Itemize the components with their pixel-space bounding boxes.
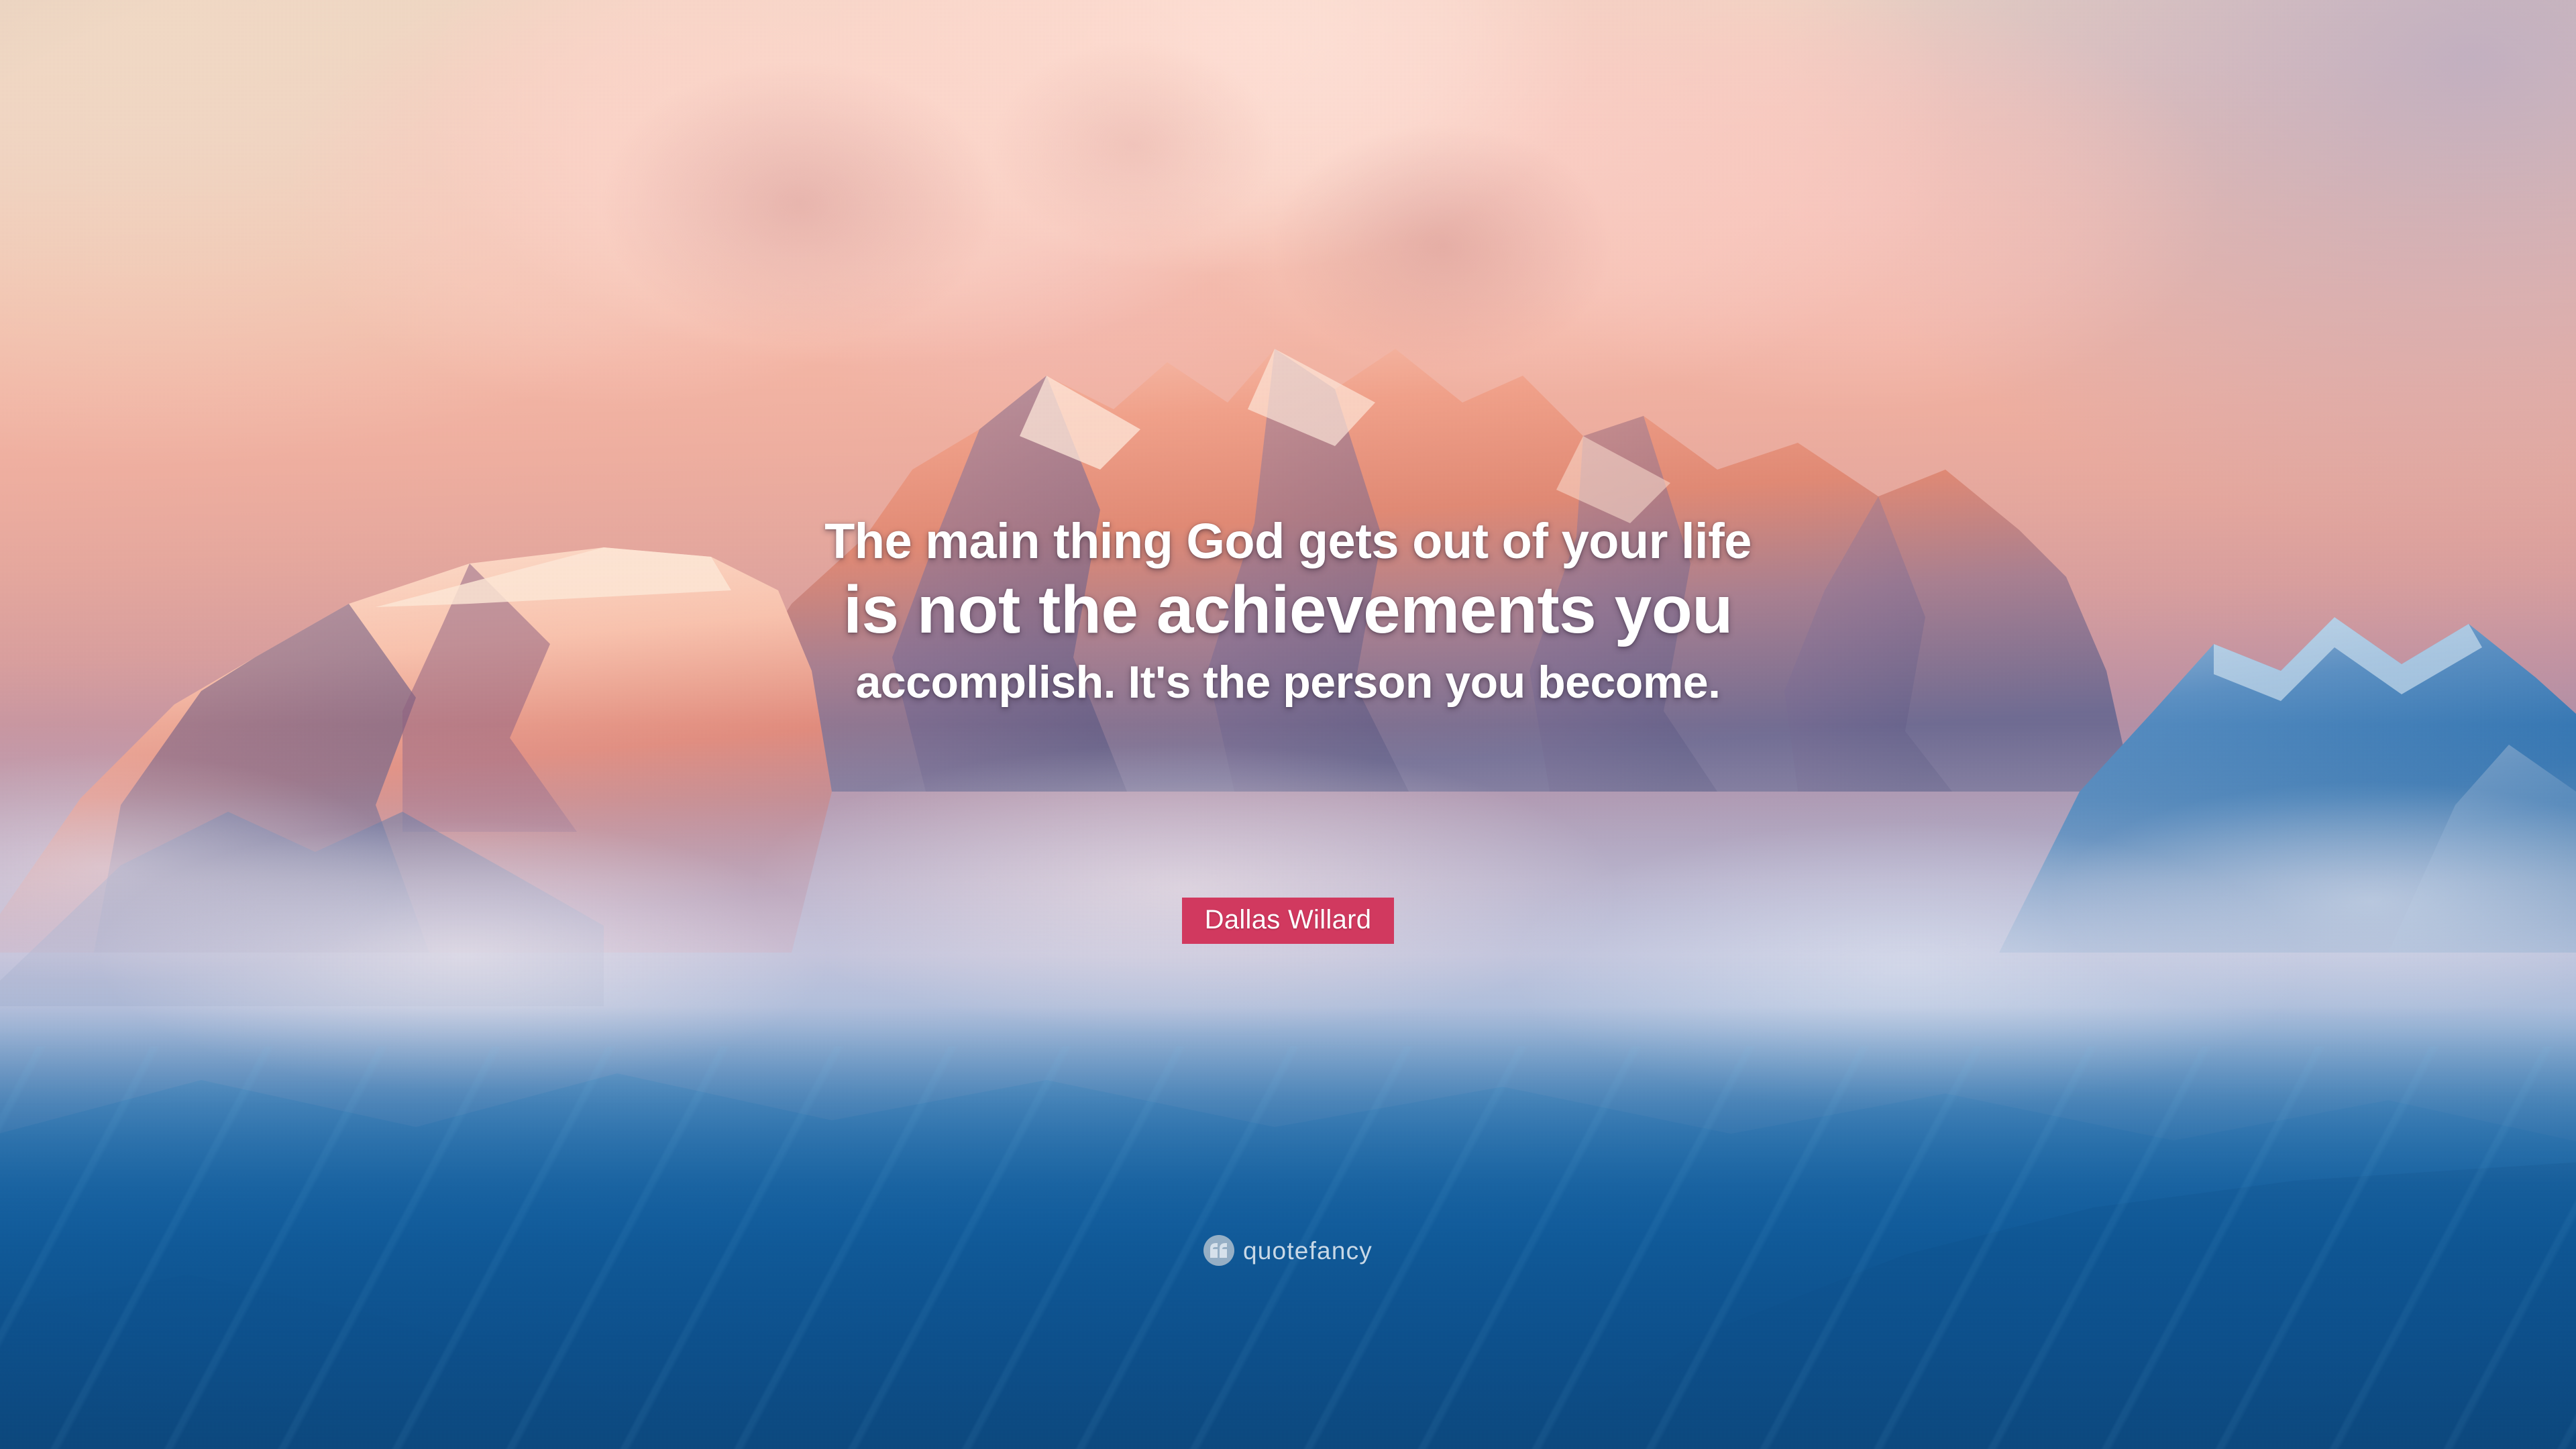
quote-text: The main thing God gets out of your life… [0, 517, 2576, 712]
overlay-content: The main thing God gets out of your life… [0, 0, 2576, 1449]
double-quote-icon [1203, 1235, 1234, 1266]
author-attribution: Dallas Willard [0, 898, 2576, 944]
quotefancy-watermark: quotefancy [0, 1235, 2576, 1266]
author-badge: Dallas Willard [1182, 898, 1395, 944]
quote-line-2: is not the achievements you [255, 566, 2321, 653]
quote-line-3: accomplish. It's the person you become. [255, 653, 2321, 712]
quote-line-1: The main thing God gets out of your life [255, 517, 2321, 566]
watermark-brand: quotefancy [1243, 1238, 1373, 1263]
wallpaper-canvas: The main thing God gets out of your life… [0, 0, 2576, 1449]
